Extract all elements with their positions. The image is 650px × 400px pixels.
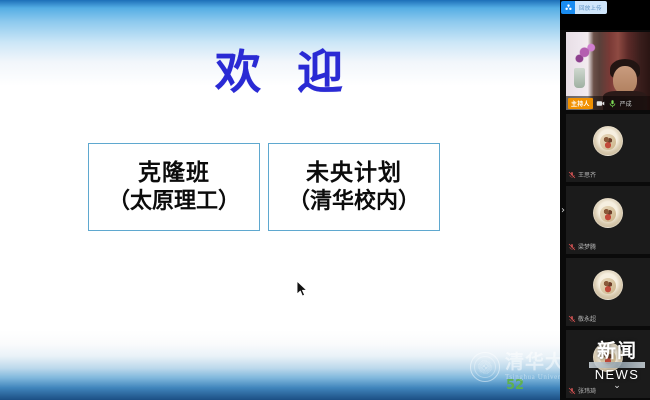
participant-tile[interactable]: 敬永超 [566,258,650,326]
avatar [593,126,623,156]
muted-microphone-icon [568,171,576,179]
slide-title: 欢迎 [0,48,560,96]
slide-content: 欢迎 克隆班 （太原理工） 未央计划 （清华校内） 52 [0,0,560,400]
microphone-icon[interactable] [608,99,617,108]
avatar [593,198,623,228]
avatar [593,342,623,372]
recording-upload-badge[interactable]: 回放上传 [561,1,607,14]
slide-title-char-1: 欢 [215,45,263,99]
active-speaker-tile[interactable]: 主持人 严成 [566,32,650,110]
mouse-pointer-icon [296,280,308,298]
cloud-upload-icon [561,1,575,14]
participant-name-row: 梁梦腾 [568,242,596,251]
sidebar-collapse-button[interactable]: › [558,203,568,219]
info-box-title: 未央计划 [306,159,402,188]
decor-vase [574,68,585,88]
muted-microphone-icon [568,387,576,395]
participant-name-row: 王思齐 [568,170,596,179]
avatar [593,270,623,300]
participant-tile[interactable]: 张玮琦 [566,330,650,398]
participant-sidebar: 回放上传 主持人 严成 [560,0,650,400]
participant-name: 张玮琦 [578,386,596,395]
info-box-clone-class: 克隆班 （太原理工） [88,143,260,231]
participant-tile[interactable]: 王思齐 [566,114,650,182]
speaker-face [613,66,637,94]
info-box-subtitle: （清华校内） [288,188,420,216]
camera-icon[interactable] [596,99,605,108]
screen-capture: 欢迎 克隆班 （太原理工） 未央计划 （清华校内） 52 清华大学 Tsingh… [0,0,650,400]
slide-box-row: 克隆班 （太原理工） 未央计划 （清华校内） [88,143,440,231]
info-box-subtitle: （太原理工） [108,188,240,216]
host-badge: 主持人 [568,98,593,109]
participant-name-row: 敬永超 [568,314,596,323]
shared-slide: 欢迎 克隆班 （太原理工） 未央计划 （清华校内） 52 [0,0,560,400]
participant-tile[interactable]: 梁梦腾 [566,186,650,254]
muted-microphone-icon [568,315,576,323]
info-box-weiyang-plan: 未央计划 （清华校内） [268,143,440,231]
recording-upload-label: 回放上传 [575,1,607,14]
speaker-name: 严成 [620,99,632,108]
participant-name-row: 张玮琦 [568,386,596,395]
speaker-control-bar: 主持人 严成 [566,96,650,110]
participant-name: 王思齐 [578,170,596,179]
muted-microphone-icon [568,243,576,251]
info-box-title: 克隆班 [138,159,210,188]
participant-name: 梁梦腾 [578,242,596,251]
slide-title-char-2: 迎 [297,45,345,99]
slide-page-number: 52 [506,378,524,393]
participant-name: 敬永超 [578,314,596,323]
